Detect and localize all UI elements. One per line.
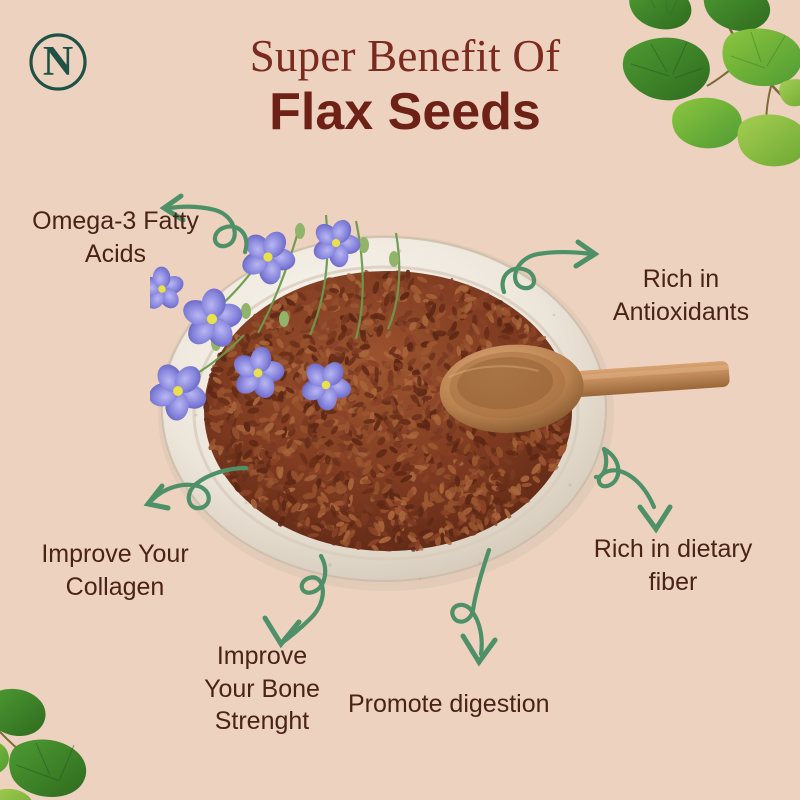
brand-logo[interactable]: N [26, 30, 90, 94]
benefit-label-bone-strength: Improve Your Bone Strenght [172, 640, 352, 738]
benefit-label-collagen: Improve Your Collagen [0, 538, 234, 603]
curly-arrow-down-left-icon [132, 462, 250, 534]
curly-arrow-down-left-bone-icon [243, 556, 335, 652]
benefit-label-omega-3: Omega-3 Fatty Acids [0, 205, 233, 270]
benefit-label-antioxidants: Rich in Antioxidants [562, 263, 800, 328]
title-line-primary: Super Benefit Of [170, 32, 640, 81]
curly-arrow-down-icon [445, 548, 523, 668]
curly-arrow-down-right-icon [598, 445, 690, 545]
infographic-canvas: N Super Benefit Of Flax Seeds [0, 0, 800, 800]
logo-letter: N [43, 39, 73, 85]
title-line-secondary: Flax Seeds [170, 83, 640, 141]
benefit-label-dietary-fiber: Rich in dietary fiber [548, 533, 798, 598]
grape-vine-leaves-bottom-left-icon [0, 683, 124, 800]
page-title: Super Benefit Of Flax Seeds [170, 32, 640, 141]
benefit-label-digestion: Promote digestion [348, 688, 608, 721]
